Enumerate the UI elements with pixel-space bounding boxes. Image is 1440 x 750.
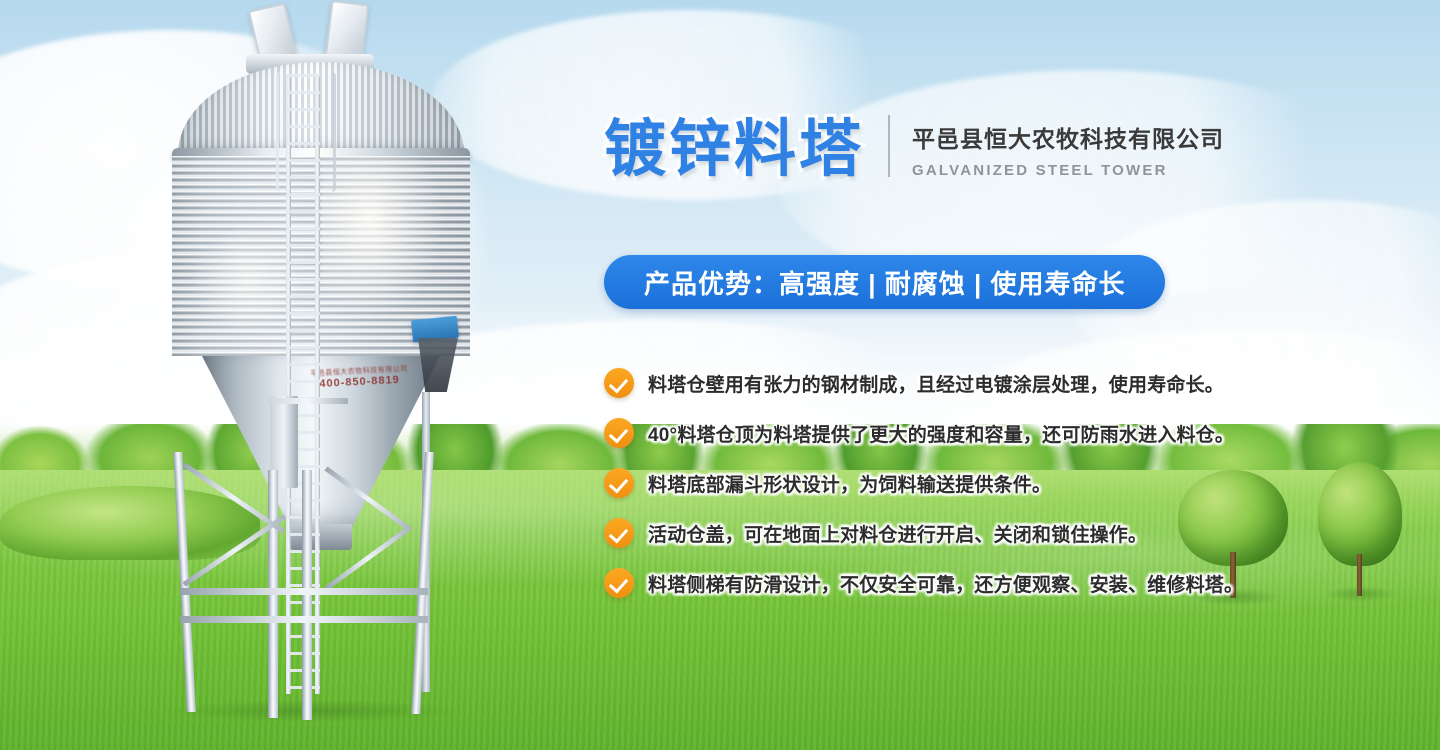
product-advantage-text: 产品优势：高强度 | 耐腐蚀 | 使用寿命长 — [644, 264, 1125, 301]
check-circle-icon — [604, 368, 634, 398]
title-divider — [888, 115, 890, 177]
company-block: 平邑县恒大农牧科技有限公司 GALVANIZED STEEL TOWER — [912, 126, 1224, 181]
company-name-english: GALVANIZED STEEL TOWER — [912, 162, 1224, 179]
page-title: 镀锌料塔 — [604, 119, 864, 181]
silo-inspection-bracket — [268, 398, 348, 404]
silo-sun-glare — [322, 156, 442, 316]
feature-text: 料塔底部漏斗形状设计，为饲料输送提供条件。 — [648, 470, 1051, 497]
company-name: 平邑县恒大农牧科技有限公司 — [912, 126, 1224, 154]
feature-text: 活动仓盖，可在地面上对料仓进行开启、关闭和锁住操作。 — [648, 520, 1147, 547]
list-item: 40°料塔仓顶为料塔提供了更大的强度和容量，还可防雨水进入料仓。 — [604, 408, 1304, 458]
silo-support-leg — [302, 470, 312, 720]
check-circle-icon — [604, 468, 634, 498]
list-item: 料塔侧梯有防滑设计，不仅安全可靠，还方便观察、安装、维修料塔。 — [604, 558, 1304, 608]
promo-banner: 平邑县恒大农牧科技有限公司 400-850-8819 镀锌料塔 — [0, 0, 1440, 750]
list-item: 料塔底部漏斗形状设计，为饲料输送提供条件。 — [604, 458, 1304, 508]
feature-list: 料塔仓壁用有张力的钢材制成，且经过电镀涂层处理，使用寿命长。 40°料塔仓顶为料… — [604, 358, 1304, 608]
feature-text: 料塔仓壁用有张力的钢材制成，且经过电镀涂层处理，使用寿命长。 — [648, 370, 1224, 397]
list-item: 料塔仓壁用有张力的钢材制成，且经过电镀涂层处理，使用寿命长。 — [604, 358, 1304, 408]
title-row: 镀锌料塔 平邑县恒大农牧科技有限公司 GALVANIZED STEEL TOWE… — [604, 115, 1224, 181]
silo-roof-hatch-icon — [325, 0, 370, 62]
banner-content: 镀锌料塔 平邑县恒大农牧科技有限公司 GALVANIZED STEEL TOWE… — [604, 0, 1304, 750]
list-item: 活动仓盖，可在地面上对料仓进行开启、关闭和锁住操作。 — [604, 508, 1304, 558]
galvanized-silo-photo: 平邑县恒大农牧科技有限公司 400-850-8819 — [150, 0, 490, 750]
tree-shadow — [1324, 586, 1398, 602]
silo-horizontal-rail — [180, 616, 428, 623]
feature-text: 料塔侧梯有防滑设计，不仅安全可靠，还方便观察、安装、维修料塔。 — [648, 570, 1243, 597]
check-circle-icon — [604, 518, 634, 548]
tree-canopy — [1318, 462, 1402, 566]
check-circle-icon — [604, 418, 634, 448]
foreground-tree — [1318, 462, 1402, 596]
silo-printed-logo: 平邑县恒大农牧科技有限公司 400-850-8819 — [309, 365, 411, 414]
check-circle-icon — [604, 568, 634, 598]
feature-text: 40°料塔仓顶为料塔提供了更大的强度和容量，还可防雨水进入料仓。 — [648, 420, 1234, 447]
product-advantage-badge: 产品优势：高强度 | 耐腐蚀 | 使用寿命长 — [604, 255, 1165, 309]
silo-horizontal-rail — [180, 588, 428, 595]
